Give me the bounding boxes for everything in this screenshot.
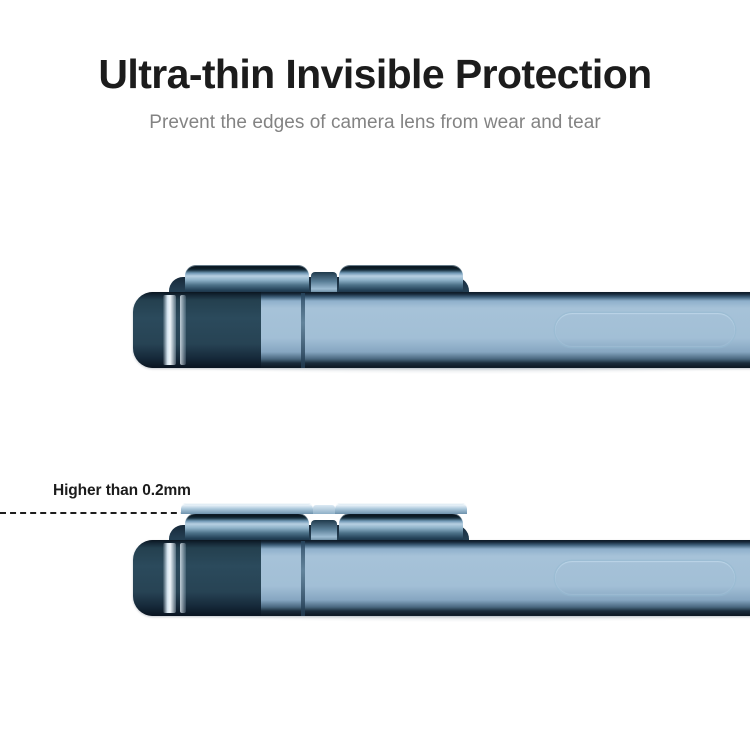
antenna-seam-line — [301, 541, 305, 616]
camera-lens-ring-1 — [185, 265, 309, 295]
phone-ground-shadow — [173, 615, 750, 622]
antenna-seam-line — [301, 293, 305, 368]
lens-protector-ring-1 — [181, 503, 313, 514]
page-title: Ultra-thin Invisible Protection — [0, 52, 750, 96]
phone-ground-shadow — [173, 367, 750, 374]
frame-highlight-glint-2 — [180, 543, 186, 613]
side-volume-button — [555, 313, 735, 347]
frame-highlight-glint-1 — [163, 295, 176, 365]
page-subtitle: Prevent the edges of camera lens from we… — [0, 112, 750, 134]
camera-lens-ring-2 — [339, 513, 463, 543]
side-volume-button — [555, 561, 735, 595]
camera-lens-ring-2 — [339, 265, 463, 295]
phone-frame-left-cap — [133, 540, 261, 616]
height-annotation-label: Higher than 0.2mm — [53, 482, 191, 500]
lens-protector-bridge — [313, 505, 335, 514]
lens-protector-ring-2 — [335, 503, 467, 514]
phone-without-protector — [133, 255, 750, 385]
phone-frame-left-cap — [133, 292, 261, 368]
frame-highlight-glint-2 — [180, 295, 186, 365]
camera-lens-ring-1 — [185, 513, 309, 543]
header: Ultra-thin Invisible Protection Prevent … — [0, 52, 750, 134]
frame-highlight-glint-1 — [163, 543, 176, 613]
product-marketing-image: Ultra-thin Invisible Protection Prevent … — [0, 0, 750, 750]
phone-with-protector — [133, 503, 750, 633]
